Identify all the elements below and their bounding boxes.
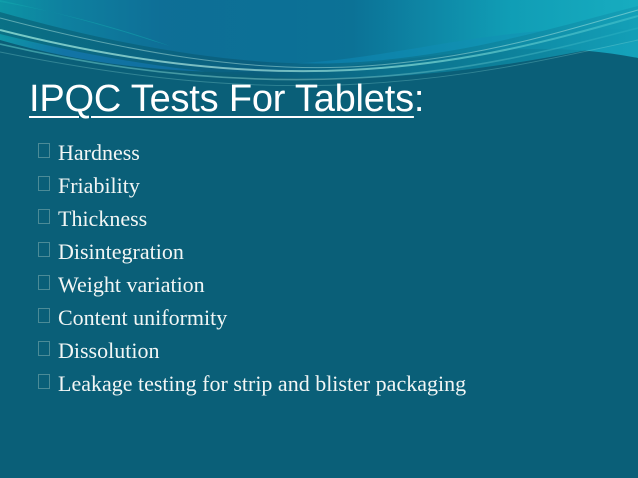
list-item: Weight variation <box>38 268 618 301</box>
list-item-label: Hardness <box>58 136 140 169</box>
bullet-box-icon <box>38 341 50 356</box>
slide-body: IPQC Tests For Tablets: Hardness Friabil… <box>0 0 638 478</box>
list-item: Hardness <box>38 136 618 169</box>
bullet-box-icon <box>38 143 50 158</box>
page-title-underlined-text: IPQC Tests For Tablets <box>29 78 414 120</box>
list-item: Content uniformity <box>38 301 618 334</box>
bullet-box-icon <box>38 242 50 257</box>
page-title-colon: : <box>414 78 424 120</box>
bullet-box-icon <box>38 308 50 323</box>
ipqc-tests-list: Hardness Friability Thickness Disintegra… <box>38 136 618 400</box>
list-item: Friability <box>38 169 618 202</box>
list-item-label: Leakage testing for strip and blister pa… <box>58 367 466 400</box>
list-item-label: Content uniformity <box>58 301 227 334</box>
bullet-box-icon <box>38 275 50 290</box>
list-item: Thickness <box>38 202 618 235</box>
list-item: Dissolution <box>38 334 618 367</box>
page-title: IPQC Tests For Tablets: <box>29 77 424 121</box>
bullet-box-icon <box>38 209 50 224</box>
list-item-label: Friability <box>58 169 140 202</box>
list-item: Disintegration <box>38 235 618 268</box>
list-item-label: Dissolution <box>58 334 159 367</box>
list-item-label: Weight variation <box>58 268 205 301</box>
list-item: Leakage testing for strip and blister pa… <box>38 367 618 400</box>
slide: IPQC Tests For Tablets: Hardness Friabil… <box>0 0 638 478</box>
bullet-box-icon <box>38 176 50 191</box>
list-item-label: Disintegration <box>58 235 184 268</box>
bullet-box-icon <box>38 374 50 389</box>
list-item-label: Thickness <box>58 202 147 235</box>
